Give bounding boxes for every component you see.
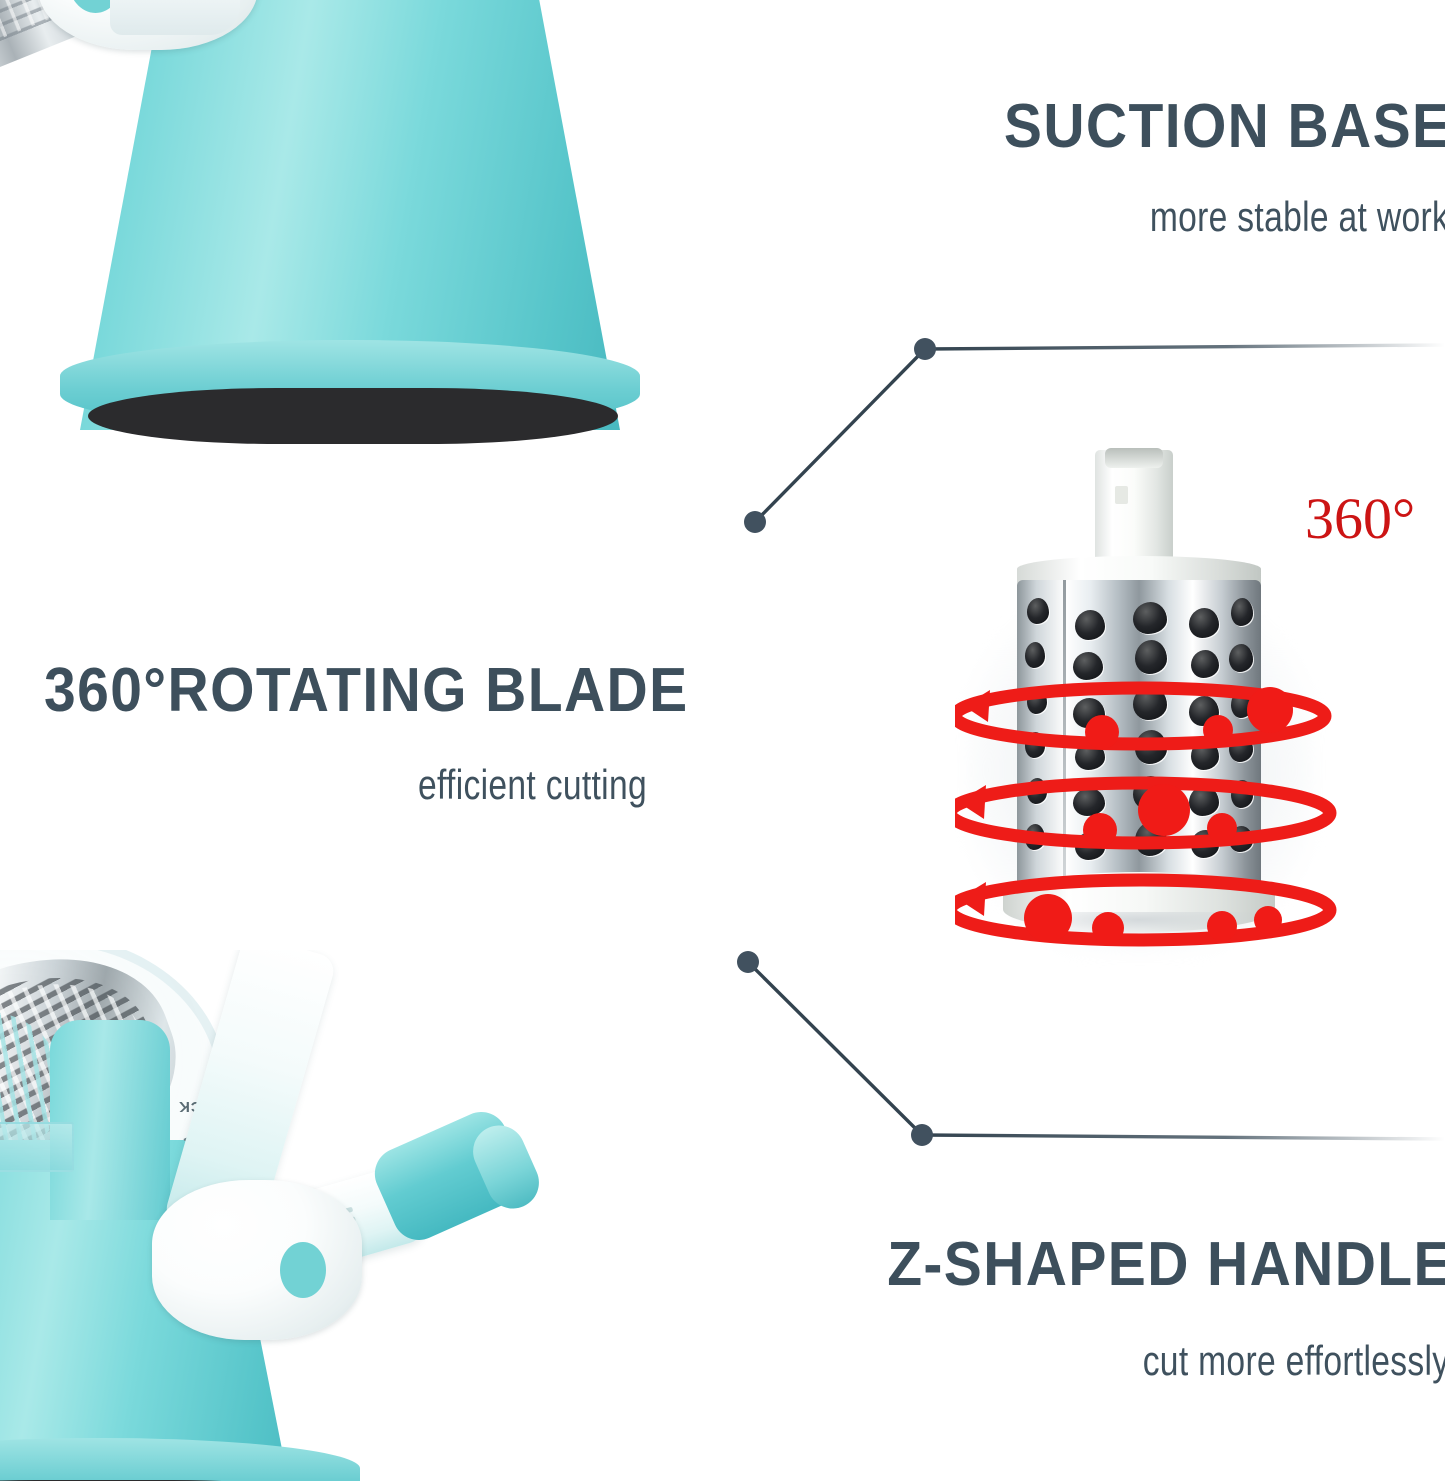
lock-knob-shaft-top (110, 0, 240, 35)
lock-knob-bottom (152, 1180, 362, 1340)
feature-subtitle-suction-base: more stable at work (1150, 196, 1445, 238)
feature-subtitle-rotating-blade: efficient cutting (418, 764, 647, 806)
product-photo-suction-base: LOCK (0, 0, 660, 460)
rotation-arrow-rings (955, 670, 1355, 960)
teal-upright-column (50, 1020, 170, 1220)
drum-shaft-keyway (1115, 486, 1128, 504)
suction-base-pad-top (88, 388, 618, 444)
feed-chute-window-bottom (0, 1122, 74, 1172)
cone-base-ring-bottom (0, 1438, 360, 1481)
drum-shaft-socket (1105, 448, 1163, 468)
infographic-canvas: LOCK (0, 0, 1445, 1481)
lock-knob-dot-bottom (280, 1242, 326, 1298)
feature-subtitle-z-handle: cut more effortlessly (1142, 1340, 1445, 1382)
feature-title-rotating-blade: 360°ROTATING BLADE (44, 660, 689, 722)
product-photo-z-handle: LOCK (0, 950, 620, 1481)
product-photo-blade-drum (955, 440, 1355, 1010)
feature-title-suction-base: SUCTION BASE (1003, 96, 1445, 158)
feature-title-z-handle: Z-SHAPED HANDLE (887, 1234, 1445, 1296)
